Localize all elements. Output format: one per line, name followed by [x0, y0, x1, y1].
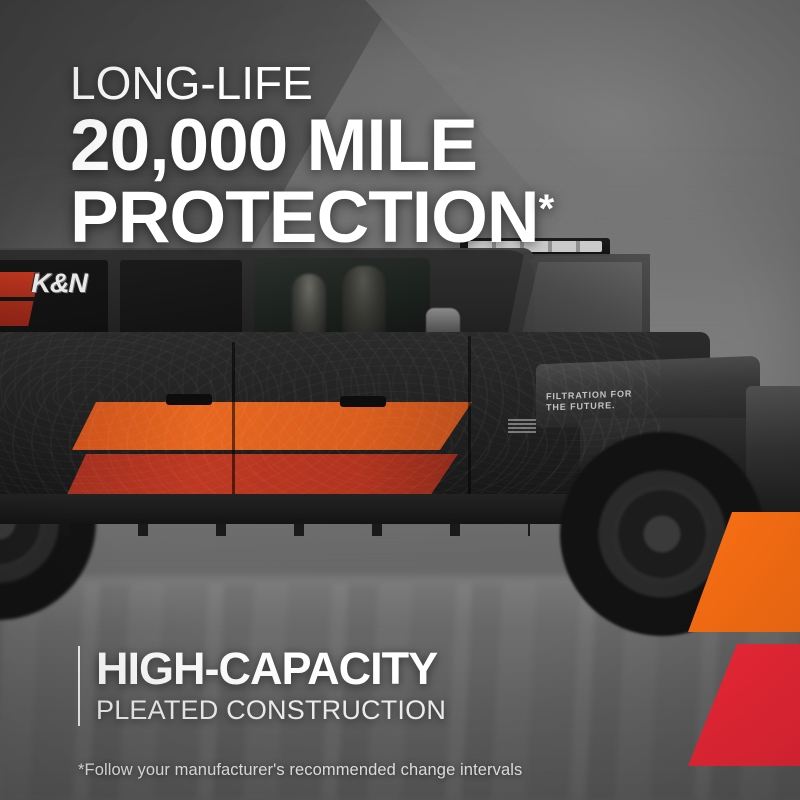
rear-door-handle: [166, 394, 212, 405]
kn-logo-badge: K&N: [0, 268, 107, 330]
eyebrow-text: LONG-LIFE: [70, 58, 690, 108]
headline-line-1: 20,000 MILE: [70, 112, 690, 180]
rear-door-window: [120, 260, 242, 336]
subcopy-text: PLEATED CONSTRUCTION: [96, 694, 446, 726]
front-door-handle: [340, 396, 386, 407]
kn-filter-advertisement: K&N FILTRATION FOR THE FUTURE. LONG-LIFE…: [0, 0, 800, 800]
headline-line-2: PROTECTION*: [70, 184, 690, 252]
flag-decal: [508, 418, 536, 433]
lower-text-group: HIGH-CAPACITY PLEATED CONSTRUCTION: [96, 646, 446, 726]
jeep-vehicle: [0, 236, 800, 636]
lower-callout: HIGH-CAPACITY PLEATED CONSTRUCTION: [78, 646, 446, 726]
hood-tagline: FILTRATION FOR THE FUTURE.: [546, 388, 632, 413]
door-seam-rear: [232, 342, 235, 518]
headline-asterisk: *: [539, 187, 554, 231]
subhead-text: HIGH-CAPACITY: [96, 646, 446, 692]
topographic-camo-wrap: [0, 332, 660, 512]
rear-passenger-silhouette: [292, 274, 326, 334]
front-wheel-hub: [612, 484, 712, 584]
vertical-rule-divider: [78, 646, 80, 726]
kn-logo-text: K&N: [31, 270, 87, 296]
disclaimer-text: *Follow your manufacturer's recommended …: [78, 760, 522, 780]
headline-line-2-text: PROTECTION: [70, 177, 539, 258]
driver-silhouette: [342, 266, 386, 338]
rocker-step-detail: [60, 518, 530, 536]
headline-block: LONG-LIFE 20,000 MILE PROTECTION*: [70, 58, 690, 252]
